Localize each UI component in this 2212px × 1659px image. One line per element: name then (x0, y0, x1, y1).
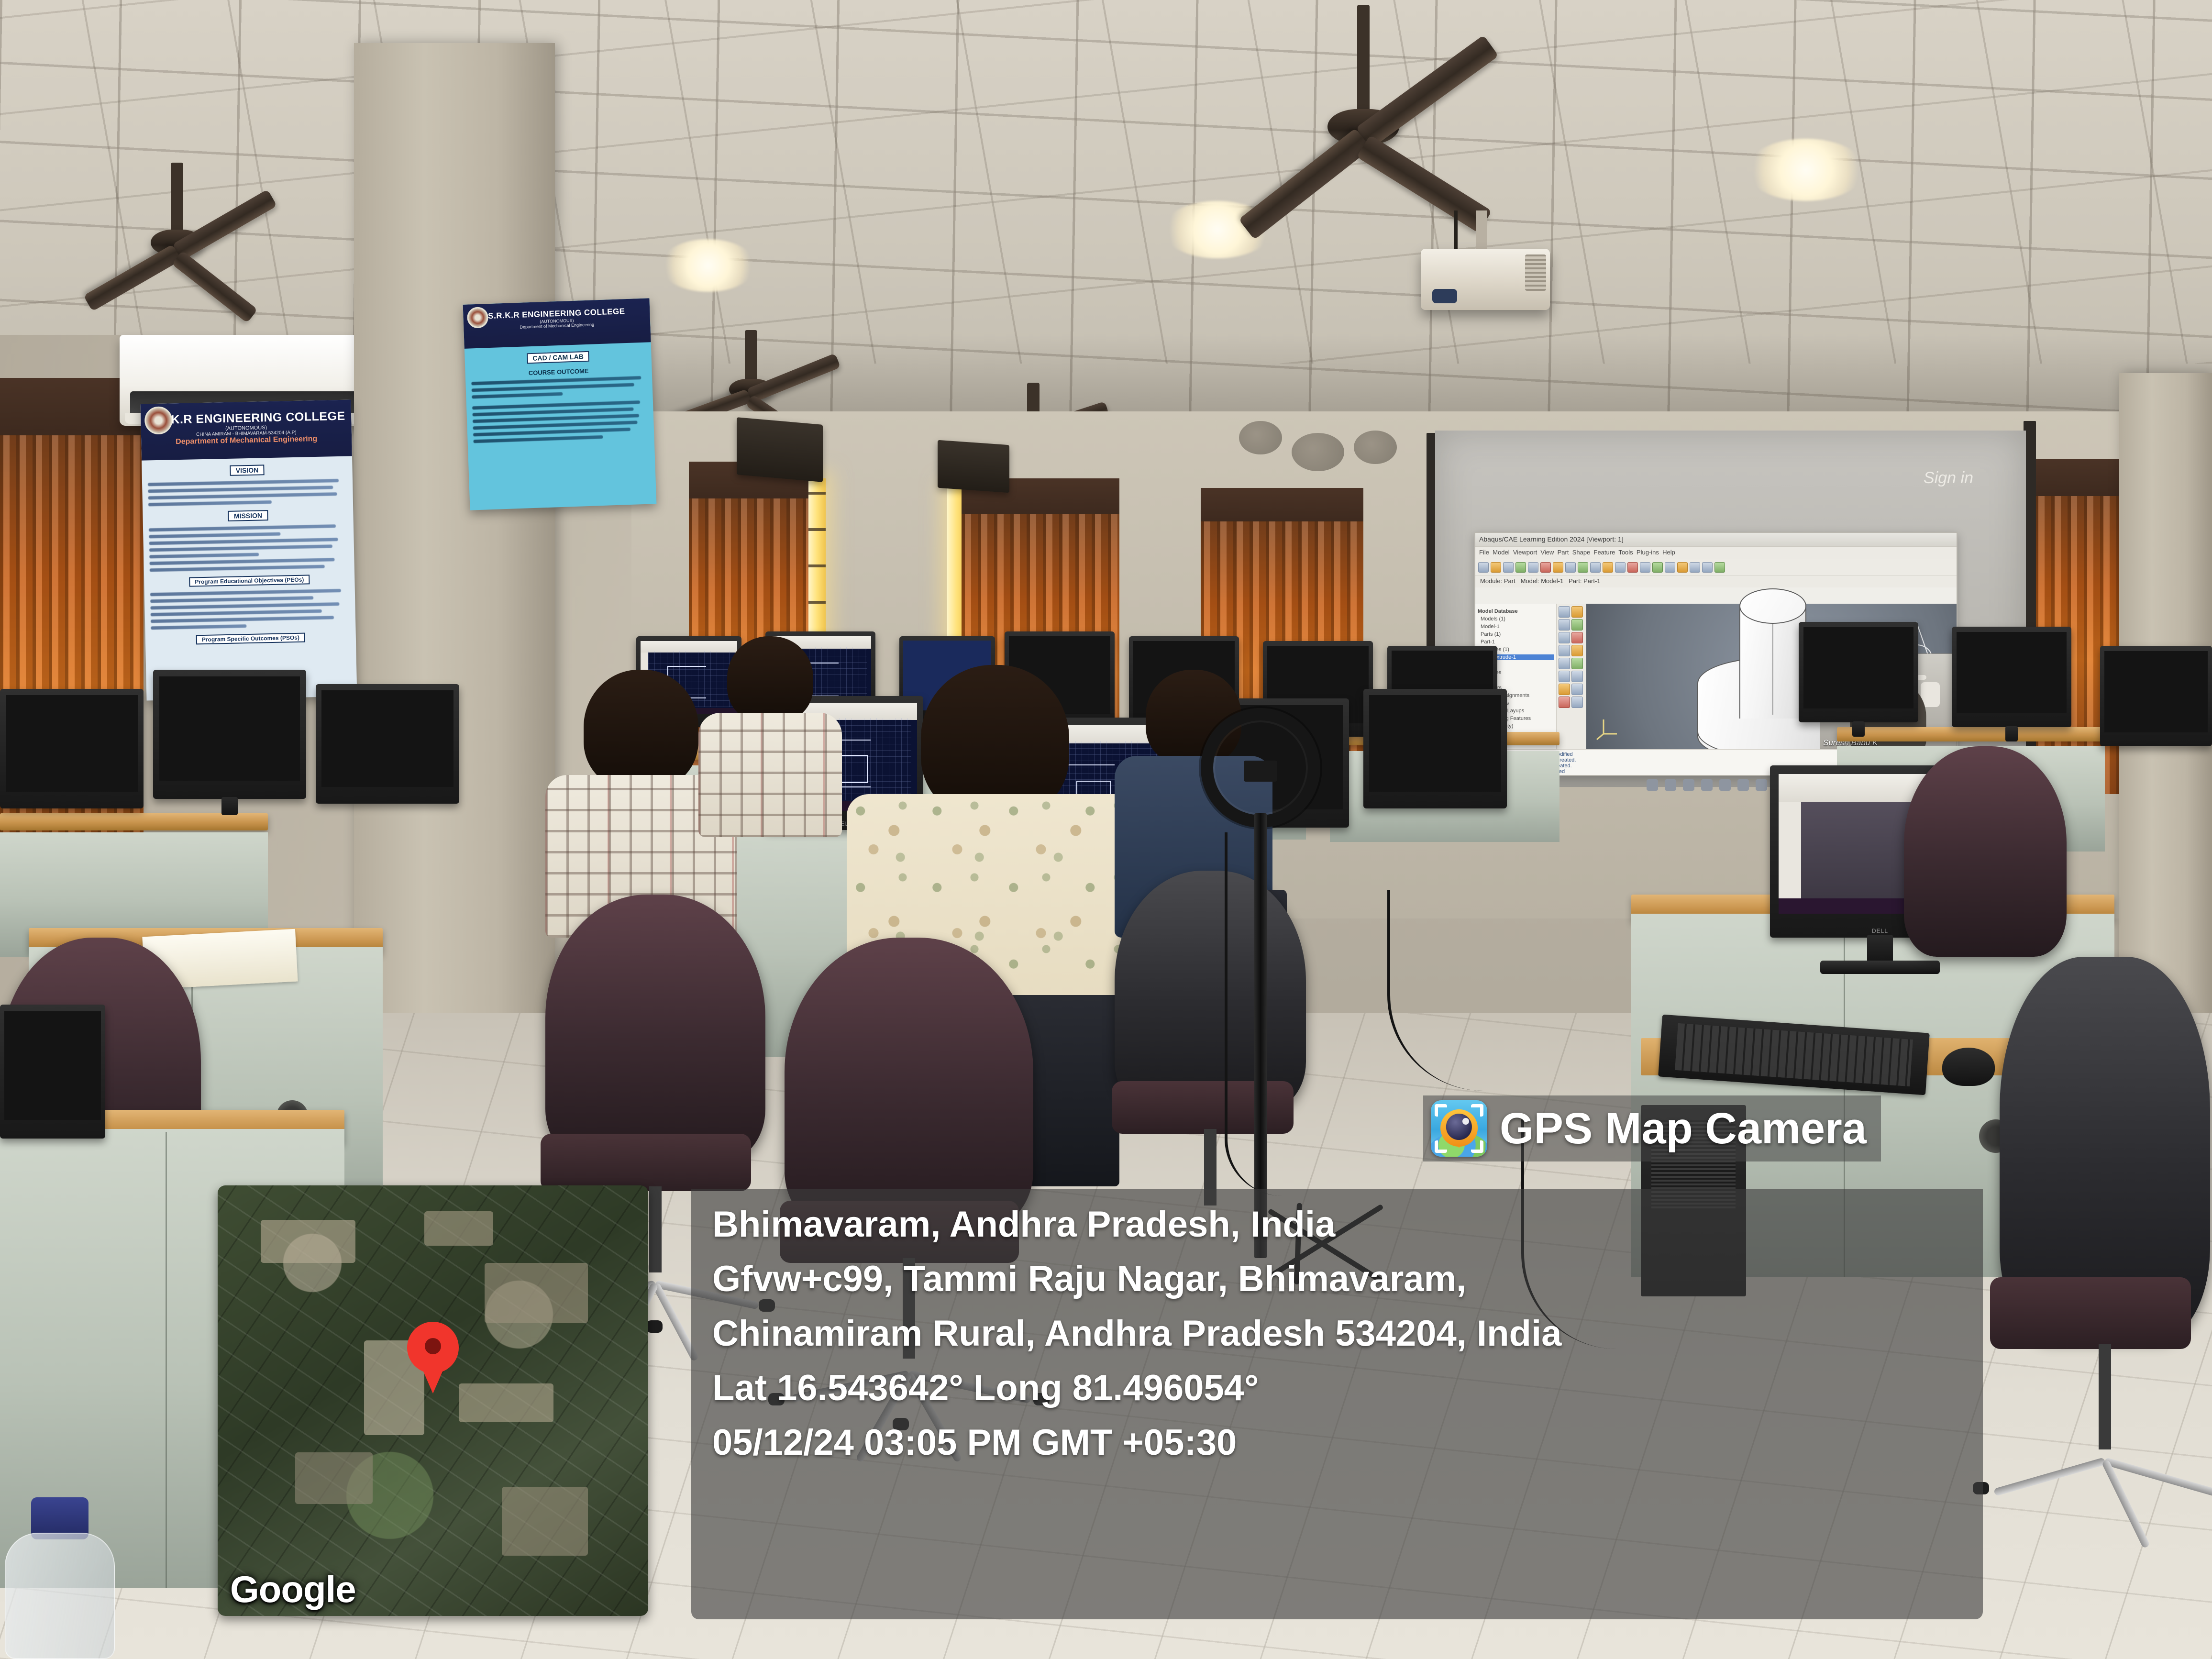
toolbar-icon[interactable] (1571, 619, 1583, 630)
toolbar-icon[interactable] (1571, 645, 1583, 656)
wall-decor-globe-icon (1292, 433, 1344, 471)
map-feature (459, 1383, 553, 1422)
monitor (0, 689, 144, 808)
map-pin-icon (407, 1322, 459, 1394)
taskbar-icon[interactable] (1647, 779, 1658, 791)
taskbar-icon[interactable] (1683, 779, 1694, 791)
toolbar-icon[interactable] (1503, 562, 1514, 573)
gps-address-line-1: Gfvw+c99, Tammi Raju Nagar, Bhimavaram, (712, 1252, 1969, 1306)
gps-coordinates-line: Lat 16.543642° Long 81.496054° (712, 1361, 1969, 1416)
ceiling-tile-grid-far (0, 0, 2212, 364)
toolbar-icon[interactable] (1559, 645, 1570, 656)
menu-model[interactable]: Model (1493, 549, 1509, 556)
gps-address-line-2: Chinamiram Rural, Andhra Pradesh 534204,… (712, 1306, 1969, 1361)
tree-node[interactable]: Model-1 (1481, 624, 1554, 630)
monitor (1799, 622, 1918, 722)
map-feature (485, 1263, 588, 1323)
toolbar-icon[interactable] (1677, 562, 1688, 573)
toolbar-icon[interactable] (1571, 606, 1583, 618)
map-thumbnail[interactable]: Google (218, 1185, 648, 1616)
sign-in-label: Sign in (1924, 469, 1973, 487)
lens-highlight-icon (1462, 1118, 1469, 1125)
toolbar-icon[interactable] (1559, 671, 1570, 682)
monitor (316, 684, 459, 804)
toolbar-icon[interactable] (1702, 562, 1713, 573)
toolbar-icon[interactable] (1559, 658, 1570, 669)
taskbar-icon[interactable] (1701, 779, 1713, 791)
gps-map-camera-logo-icon (1431, 1100, 1487, 1157)
menu-part[interactable]: Part (1558, 549, 1569, 556)
toolbar-icon[interactable] (1590, 562, 1601, 573)
context-part-value[interactable]: Part-1 (1583, 577, 1600, 585)
menu-plugins[interactable]: Plug-ins (1637, 549, 1659, 556)
gps-app-name: GPS Map Camera (1500, 1104, 1867, 1154)
power-cable (1225, 832, 1282, 1196)
monitor (2100, 646, 2212, 746)
toolbar-icon[interactable] (1565, 562, 1576, 573)
ceiling-light-icon (1746, 139, 1866, 201)
toolbar-icon[interactable] (1714, 562, 1725, 573)
gps-info-lines: Bhimavaram, Andhra Pradesh, India Gfvw+c… (712, 1197, 1969, 1470)
monitor (0, 1005, 105, 1139)
google-watermark: Google (230, 1568, 356, 1611)
office-chair (2000, 957, 2210, 1339)
monitor-brand-label: DELL (1872, 928, 1888, 934)
monitor (1363, 689, 1507, 808)
map-feature (502, 1487, 588, 1556)
poster-lab-title: CAD / CAM LAB (527, 351, 589, 364)
axis-triad-icon (1595, 712, 1624, 741)
cad-toolbar-primary[interactable] (1475, 559, 1957, 575)
poster-mechanical-vision-mission: S.R.K.R ENGINEERING COLLEGE (AUTONOMOUS)… (141, 399, 357, 700)
office-chair (545, 895, 765, 1162)
gps-info-panel: Bhimavaram, Andhra Pradesh, India Gfvw+c… (691, 1189, 1983, 1619)
poster-cad-cam-lab: S.R.K.R ENGINEERING COLLEGE (AUTONOMOUS)… (463, 298, 657, 510)
mouse[interactable] (1942, 1048, 1995, 1086)
toolbar-icon[interactable] (1640, 562, 1650, 573)
menu-feature[interactable]: Feature (1594, 549, 1615, 556)
toolbar-icon[interactable] (1665, 562, 1675, 573)
wall-decor-globe-icon (1239, 421, 1282, 454)
map-feature (424, 1211, 493, 1246)
toolbar-icon[interactable] (1478, 562, 1489, 573)
bottle-body (5, 1533, 115, 1659)
menu-tools[interactable]: Tools (1618, 549, 1633, 556)
toolbar-icon[interactable] (1571, 684, 1583, 695)
water-bottle (5, 1497, 115, 1659)
context-model-value[interactable]: Model-1 (1541, 577, 1563, 585)
toolbar-icon[interactable] (1690, 562, 1700, 573)
wall-speaker (737, 417, 823, 482)
wall-decor-globe-icon (1354, 431, 1397, 464)
cad-menubar: File Model Viewport View Part Shape Feat… (1475, 546, 1957, 559)
taskbar-icon[interactable] (1719, 779, 1731, 791)
gps-datetime-line: 05/12/24 03:05 PM GMT +05:30 (712, 1416, 1969, 1470)
ceiling-light-icon (660, 239, 756, 292)
map-feature (261, 1220, 355, 1263)
frame-corner-icon (1471, 1104, 1483, 1117)
ring-light-mount (1244, 761, 1277, 782)
projector (1421, 249, 1550, 310)
wall-speaker (938, 440, 1009, 493)
toolbar-icon[interactable] (1578, 562, 1588, 573)
tree-node[interactable]: Parts (1) (1481, 631, 1554, 637)
poster-section-peos: Program Educational Objectives (PEOs) (189, 575, 310, 586)
toolbar-icon[interactable] (1603, 562, 1613, 573)
toolbar-icon[interactable] (1571, 697, 1583, 708)
frame-corner-icon (1435, 1140, 1447, 1153)
taskbar-icon[interactable] (1665, 779, 1676, 791)
cad-vertical-toolbar[interactable] (1557, 604, 1586, 749)
toolbar-icon[interactable] (1540, 562, 1551, 573)
menu-view[interactable]: View (1540, 549, 1554, 556)
toolbar-icon[interactable] (1571, 658, 1583, 669)
context-model-label: Model: (1521, 577, 1539, 585)
taskbar-icon[interactable] (1737, 779, 1749, 791)
gps-location-line: Bhimavaram, Andhra Pradesh, India (712, 1197, 1969, 1252)
toolbar-icon[interactable] (1491, 562, 1501, 573)
menu-file[interactable]: File (1479, 549, 1489, 556)
context-module-label: Module: (1480, 577, 1502, 585)
projector-vent (1525, 254, 1546, 291)
person-student (698, 636, 842, 837)
toolbar-icon[interactable] (1652, 562, 1663, 573)
toolbar-icon[interactable] (1528, 562, 1538, 573)
monitor (1952, 627, 2071, 727)
toolbar-icon[interactable] (1571, 671, 1583, 682)
tree-node[interactable]: Part-1 (1481, 639, 1554, 645)
taskbar-icon[interactable] (1756, 779, 1767, 791)
gps-app-title-bar: GPS Map Camera (1423, 1095, 1881, 1161)
toolbar-icon[interactable] (1559, 697, 1570, 708)
ceiling-fan-icon (96, 163, 258, 287)
office-chair (785, 938, 1033, 1229)
toolbar-icon[interactable] (1553, 562, 1563, 573)
toolbar-icon[interactable] (1515, 562, 1526, 573)
frame-corner-icon (1471, 1140, 1483, 1153)
menu-viewport[interactable]: Viewport (1513, 549, 1537, 556)
toolbar-icon[interactable] (1615, 562, 1626, 573)
monitor (153, 670, 306, 799)
toolbar-icon[interactable] (1559, 632, 1570, 643)
cad-window-titlebar: Abaqus/CAE Learning Edition 2024 [Viewpo… (1475, 533, 1957, 546)
map-feature (295, 1452, 373, 1504)
toolbar-icon[interactable] (1559, 606, 1570, 618)
menu-help[interactable]: Help (1662, 549, 1675, 556)
poster-section-vision: VISION (230, 465, 265, 476)
poster-section-mission: MISSION (228, 510, 268, 521)
toolbar-icon[interactable] (1571, 632, 1583, 643)
office-chair (1904, 746, 2067, 957)
context-module-value[interactable]: Part (1504, 577, 1515, 585)
tree-root[interactable]: Model Database (1478, 608, 1554, 614)
tree-node[interactable]: Models (1) (1481, 616, 1554, 622)
frame-corner-icon (1435, 1104, 1447, 1117)
poster-section-psos: Program Specific Outcomes (PSOs) (196, 633, 305, 645)
toolbar-icon[interactable] (1627, 562, 1638, 573)
gps-map-camera-photo: S.R.K.R ENGINEERING COLLEGE (AUTONOMOUS)… (0, 0, 2212, 1659)
ceiling-fan-icon (1253, 5, 1473, 163)
toolbar-icon[interactable] (1559, 619, 1570, 630)
menu-shape[interactable]: Shape (1572, 549, 1591, 556)
projector-lens-icon (1432, 289, 1457, 303)
context-part-label: Part: (1569, 577, 1582, 585)
toolbar-icon[interactable] (1559, 684, 1570, 695)
